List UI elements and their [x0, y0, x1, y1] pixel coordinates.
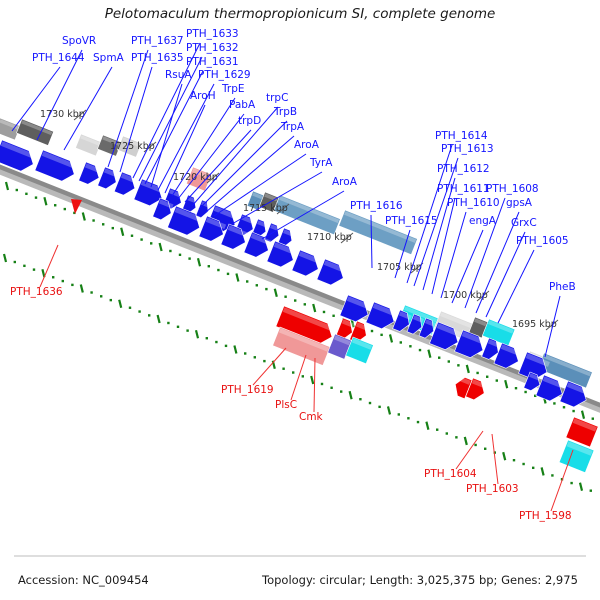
gene-label-top-text: trpC [266, 92, 288, 104]
gene-label-top-text: AroA [332, 176, 358, 188]
gene-label-top-text: PTH_1614 [435, 130, 488, 142]
gene-label-top-text: PTH_1610 [447, 197, 500, 209]
gene-label-top-text: PTH_1608 [486, 183, 539, 195]
gene-label-top-text: TrpB [273, 106, 297, 118]
canvas-background [0, 0, 600, 600]
gene-label-top-text: PTH_1605 [516, 235, 569, 247]
gene-label-top-text: AroA [294, 139, 320, 151]
gene-label-top-text: RsuA [165, 69, 192, 81]
gene-label-top-text: PTH_1616 [350, 200, 403, 212]
gene-label-bottom-text: PTH_1603 [466, 483, 519, 495]
gene-label-top-text: PTH_1633 [186, 28, 239, 40]
gene-label-top-text: PTH_1611 [437, 183, 490, 195]
axis-tick: 1695 kbp [512, 319, 558, 330]
gene-label-top-text: PTH_1631 [186, 56, 239, 68]
gene-label-bottom-text: PTH_1619 [221, 384, 274, 396]
axis-tick: 1710 kbp [307, 232, 353, 243]
gene-label-top-text: PTH_1644 [32, 52, 85, 64]
gene-label-bottom-text: PlsC [275, 399, 297, 411]
axis-tick-label: 1730 kbp [40, 109, 85, 120]
gene-label-top-text: engA [469, 215, 497, 227]
gene-label-top-text: PTH_1615 [385, 215, 438, 227]
gene-label-top-text: GrxC [511, 217, 537, 229]
gene-label-top-text: SpoVR [62, 35, 96, 47]
axis-tick: 1730 kbp [40, 109, 86, 120]
gene-label-top-text: AroH [190, 90, 216, 102]
gene-label-top-text: trpD [238, 115, 261, 127]
gene-label-top-text: PTH_1629 [198, 69, 251, 81]
axis-tick: 1720 kbp [173, 172, 219, 183]
genome-stats-text: Topology: circular; Length: 3,025,375 bp… [261, 573, 578, 587]
gene-label-top-text: TyrA [309, 157, 333, 169]
axis-tick-label: 1710 kbp [307, 232, 352, 243]
gene-label-top-text: PTH_1635 [131, 52, 184, 64]
gene-label-top-text: PTH_1632 [186, 42, 239, 54]
gene-label-top-text: TrpA [280, 121, 305, 133]
gene-label-top-text: gpsA [506, 197, 533, 209]
axis-tick-label: 1695 kbp [512, 319, 557, 330]
accession-text: Accession: NC_009454 [18, 573, 149, 587]
page-title: Pelotomaculum thermopropionicum SI, comp… [105, 6, 496, 22]
gene-label-top-text: PTH_1637 [131, 35, 184, 47]
gene-label-top-text: SpmA [93, 52, 125, 64]
genome-map-view: Pelotomaculum thermopropionicum SI, comp… [0, 0, 600, 600]
gene-label-bottom-text: PTH_1604 [424, 468, 477, 480]
gene-label-bottom-text: PTH_1598 [519, 510, 572, 522]
gene-label-bottom-text: PTH_1636 [10, 286, 63, 298]
gene-label-top-text: PTH_1613 [441, 143, 494, 155]
gene-label-top-text: PTH_1612 [437, 163, 490, 175]
gene-label-top-text: PheB [549, 281, 576, 293]
gene-label-bottom-text: Cmk [299, 411, 324, 423]
gene-label-top-text: TrpE [221, 83, 245, 95]
axis-tick-label: 1700 kbp [443, 290, 488, 301]
gene-label-top-text: PabA [229, 99, 256, 111]
